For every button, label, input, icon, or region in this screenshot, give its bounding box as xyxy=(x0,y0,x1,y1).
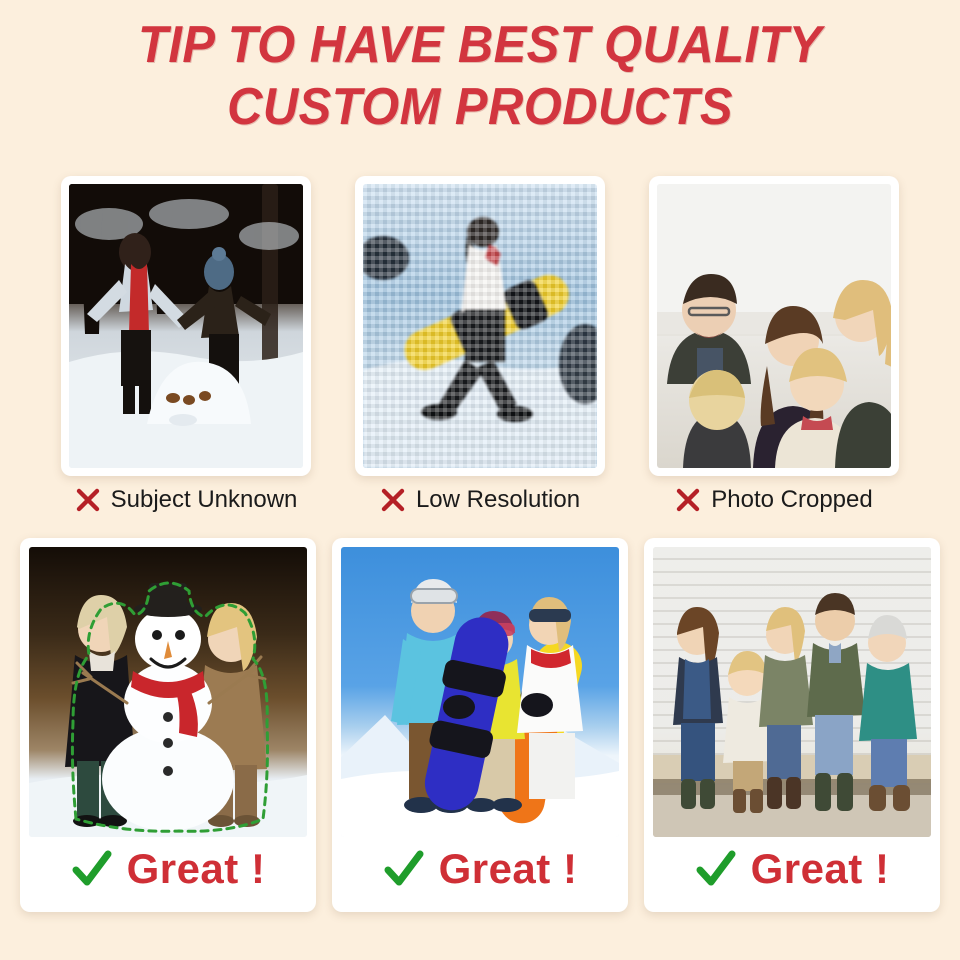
infographic-page: TIP TO HAVE BEST QUALITY CUSTOM PRODUCTS xyxy=(0,0,960,960)
check-mark-icon xyxy=(695,848,737,890)
great-label: Great ! xyxy=(439,845,578,893)
caption-label: Photo Cropped xyxy=(711,486,872,514)
check-mark-icon xyxy=(71,848,113,890)
x-mark-icon xyxy=(675,487,701,513)
photo-snowman-with-two-women-outlined xyxy=(29,547,307,837)
title-line-1: TIP TO HAVE BEST QUALITY xyxy=(29,14,931,76)
bad-examples-captions: Subject Unknown Low Resolution Photo Cro… xyxy=(0,486,960,514)
great-label: Great ! xyxy=(127,845,266,893)
good-example-card-3: Great ! xyxy=(644,538,940,912)
x-mark-icon xyxy=(380,487,406,513)
caption-photo-cropped: Photo Cropped xyxy=(649,486,899,514)
caption-label: Subject Unknown xyxy=(111,486,298,514)
photo-three-snowboarders xyxy=(341,547,619,837)
bad-example-card-3 xyxy=(649,176,899,476)
photo-pixelated-snowboarder xyxy=(363,184,597,468)
caption-label: Low Resolution xyxy=(416,486,580,514)
caption-low-resolution: Low Resolution xyxy=(355,486,605,514)
page-title: TIP TO HAVE BEST QUALITY CUSTOM PRODUCTS xyxy=(0,14,960,138)
great-banner: Great ! xyxy=(20,832,316,906)
x-mark-icon xyxy=(75,487,101,513)
good-example-card-1: Great ! xyxy=(20,538,316,912)
bad-example-card-2 xyxy=(355,176,605,476)
check-mark-icon xyxy=(383,848,425,890)
great-banner: Great ! xyxy=(644,832,940,906)
photo-family-cropped xyxy=(657,184,891,468)
photo-family-by-plank-wall xyxy=(653,547,931,837)
good-examples-row: Great ! xyxy=(0,538,960,912)
photo-two-women-building-snowman-dark-forest xyxy=(69,184,303,468)
bad-examples-row xyxy=(0,176,960,476)
title-line-2: CUSTOM PRODUCTS xyxy=(29,76,931,138)
great-label: Great ! xyxy=(751,845,890,893)
great-banner: Great ! xyxy=(332,832,628,906)
good-example-card-2: Great ! xyxy=(332,538,628,912)
caption-subject-unknown: Subject Unknown xyxy=(61,486,311,514)
bad-example-card-1 xyxy=(61,176,311,476)
